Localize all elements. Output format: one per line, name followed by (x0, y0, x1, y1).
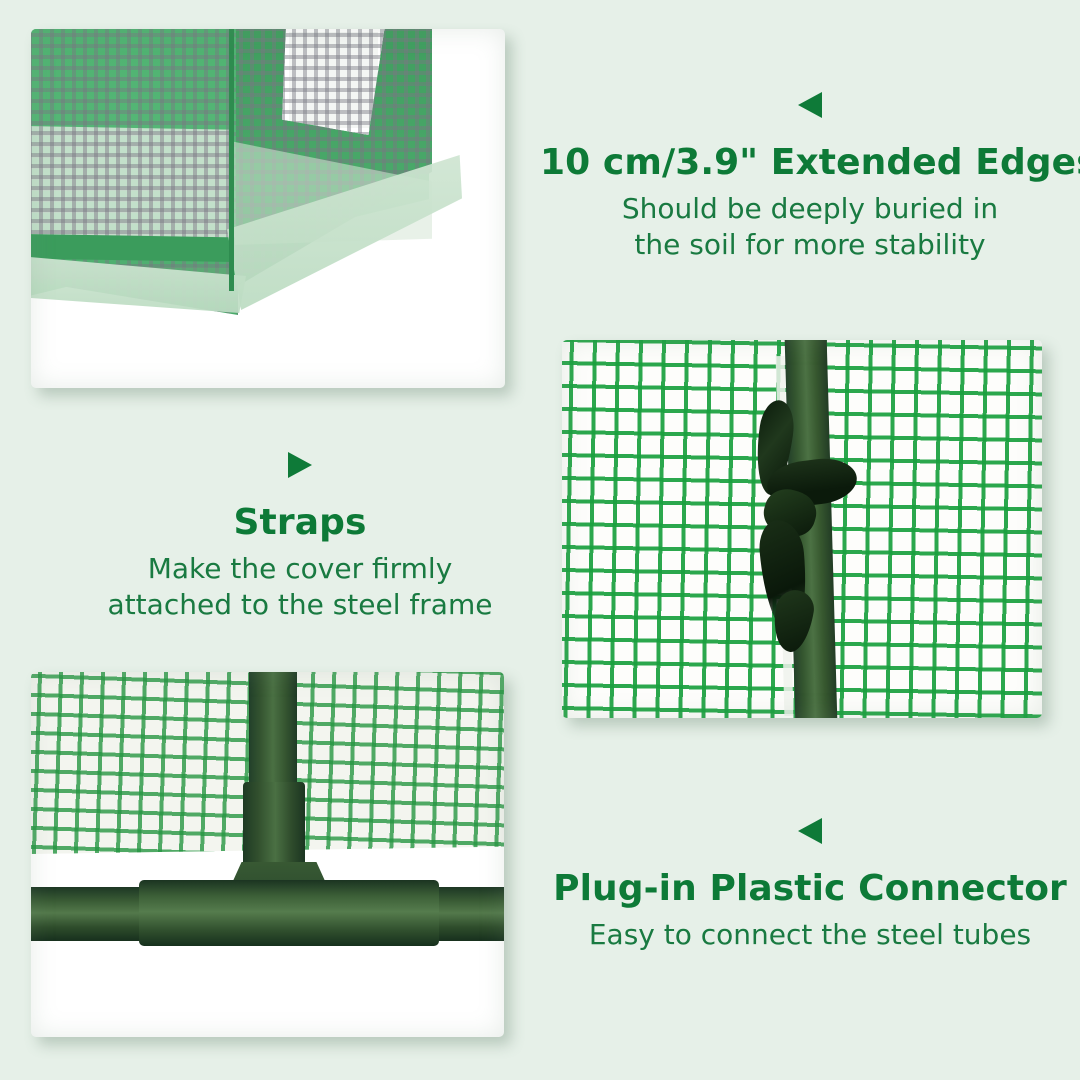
infographic-canvas: 10 cm/3.9" Extended Edges Should be deep… (0, 0, 1080, 1080)
feature-title: 10 cm/3.9" Extended Edges (540, 140, 1080, 186)
photo-connector-inner (31, 672, 504, 1037)
photo-strap-inner (562, 340, 1042, 718)
photo-plastic-connector (31, 672, 504, 1037)
photo-greenhouse-corner (31, 29, 505, 388)
feature-subtitle-line: attached to the steel frame (60, 587, 540, 623)
feature-subtitle-line: Should be deeply buried in (540, 191, 1080, 227)
feature-subtitle-line: the soil for more stability (540, 227, 1080, 263)
photo-greenhouse-corner-inner (31, 29, 505, 388)
photo-vignette (31, 29, 505, 388)
feature-subtitle-line: Make the cover firmly (60, 551, 540, 587)
feature-plug-in-plastic-connector: Plug-in Plastic Connector Easy to connec… (540, 818, 1080, 953)
feature-title: Straps (60, 500, 540, 546)
feature-subtitle: Easy to connect the steel tubes (540, 917, 1080, 953)
photo-vignette (562, 340, 1042, 718)
feature-straps: Straps Make the cover firmly attached to… (60, 452, 540, 623)
photo-vignette (31, 672, 504, 1037)
feature-subtitle: Should be deeply buried in the soil for … (540, 191, 1080, 263)
triangle-right-icon (288, 452, 312, 478)
photo-strap-on-pole (562, 340, 1042, 718)
triangle-left-icon (798, 92, 822, 118)
feature-subtitle: Make the cover firmly attached to the st… (60, 551, 540, 623)
feature-subtitle-line: Easy to connect the steel tubes (540, 917, 1080, 953)
triangle-left-icon (798, 818, 822, 844)
feature-title: Plug-in Plastic Connector (540, 866, 1080, 912)
feature-extended-edges: 10 cm/3.9" Extended Edges Should be deep… (540, 92, 1080, 263)
